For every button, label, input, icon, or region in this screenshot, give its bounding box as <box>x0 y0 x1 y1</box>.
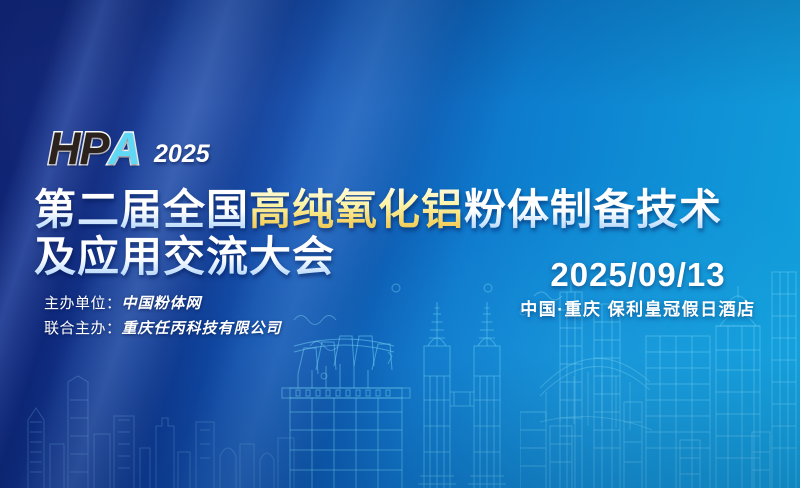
hpa-wordmark-a: A <box>109 126 141 171</box>
organizer-block: 主办单位：中国粉体网 联合主办：重庆任丙科技有限公司 <box>44 291 282 341</box>
hpa-logo: HP A 2025 <box>48 126 210 171</box>
co-organizer-value: 重庆任丙科技有限公司 <box>122 320 282 337</box>
organizer-row: 主办单位：中国粉体网 <box>44 291 282 316</box>
co-organizer-row: 联合主办：重庆任丙科技有限公司 <box>44 316 282 341</box>
event-details: 2025/09/13 中国·重庆 保利皇冠假日酒店 <box>498 256 778 324</box>
logo-year: 2025 <box>154 142 210 171</box>
event-date: 2025/09/13 <box>498 256 778 294</box>
poster-content: HP A 2025 第二届全国高纯氧化铝粉体制备技术 及应用交流大会 主办单位：… <box>0 0 800 488</box>
hpa-wordmark: HP A <box>48 126 140 171</box>
title-line-2-text: 及应用交流大会 <box>34 233 335 280</box>
title-line-1: 第二届全国高纯氧化铝粉体制备技术 <box>34 186 774 233</box>
co-organizer-label: 联合主办： <box>44 320 122 337</box>
title-line-1-highlight: 高纯氧化铝 <box>249 186 464 233</box>
organizer-label: 主办单位： <box>44 295 122 312</box>
hpa-wordmark-hp: HP <box>48 126 109 171</box>
title-line-1-part-1: 第二届全国 <box>34 186 249 233</box>
conference-poster: HP A 2025 第二届全国高纯氧化铝粉体制备技术 及应用交流大会 主办单位：… <box>0 0 800 488</box>
title-line-1-part-2: 粉体制备技术 <box>464 186 722 233</box>
event-venue: 中国·重庆 保利皇冠假日酒店 <box>498 296 778 324</box>
organizer-value: 中国粉体网 <box>122 295 202 312</box>
